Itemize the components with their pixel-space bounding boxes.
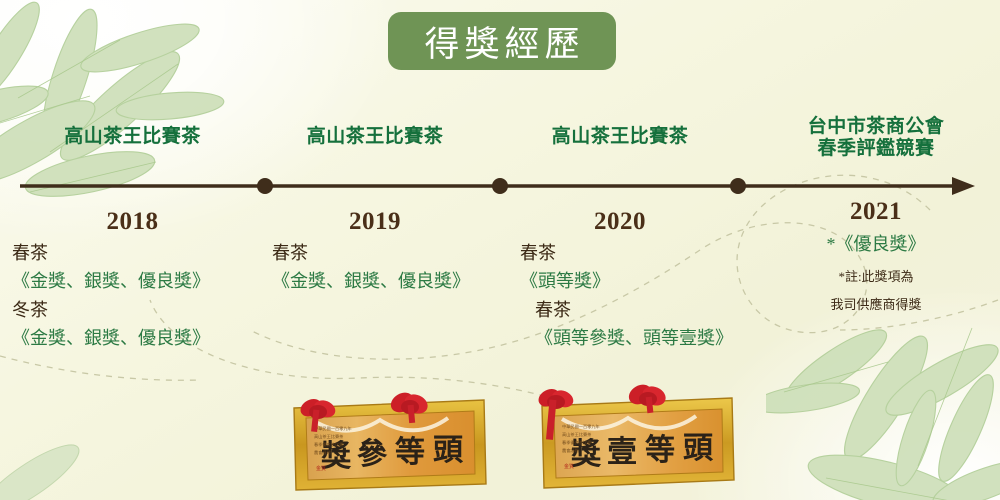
award-note-line1: *註:此獎項為 (752, 268, 1000, 286)
entry-season-label: 春茶 (272, 240, 500, 267)
entry-season-label: 春茶 (12, 240, 265, 267)
svg-text:金質: 金質 (564, 463, 574, 470)
award-entry: 春茶 《金獎、銀獎、優良獎》 (12, 240, 265, 295)
award-plaque-toudeng-canjiang: 頭 等 參 獎 中華民國一百零九年 高山茶王比賽茶 春季優良茶比賽 農會謹贈 金… (288, 378, 490, 500)
award-entry: 春茶 《頭等參獎、頭等壹獎》 (535, 297, 740, 352)
timeline-column-2019: 高山茶王比賽茶 2019 春茶 《金獎、銀獎、優良獎》 (250, 126, 500, 295)
entry-awards-text: 《頭等參獎、頭等壹獎》 (535, 324, 740, 352)
svg-text:春季優良茶比賽: 春季優良茶比賽 (562, 439, 592, 446)
timeline-column-2021: 台中市茶商公會 春季評鑑競賽 2021 *《優良獎》 *註:此獎項為 我司供應商… (752, 116, 1000, 314)
award-plaque-toudeng-yijiang: 頭 等 壹 獎 中華民國一百零九年 高山茶王比賽茶 春季優良茶比賽 農會謹贈 金… (528, 372, 738, 500)
svg-text:等: 等 (395, 435, 425, 469)
page-title-badge: 得獎經歷 (388, 12, 616, 70)
page-title: 得獎經歷 (419, 16, 584, 67)
entry-season-label: 冬茶 (12, 297, 265, 324)
column-header-2021-line2: 春季評鑑競賽 (752, 138, 1000, 160)
svg-text:高山茶王比賽茶: 高山茶王比賽茶 (562, 431, 592, 438)
svg-text:中華民國一百零九年: 中華民國一百零九年 (314, 425, 352, 432)
award-entry: 春茶 《金獎、銀獎、優良獎》 (272, 240, 500, 295)
svg-text:金質: 金質 (316, 465, 326, 472)
entry-awards-text: 《金獎、銀獎、優良獎》 (272, 267, 500, 295)
column-header-2019: 高山茶王比賽茶 (250, 126, 500, 148)
award-entry: 冬茶 《金獎、銀獎、優良獎》 (12, 297, 265, 352)
tea-leaf-icon (0, 400, 130, 500)
svg-text:中華民國一百零九年: 中華民國一百零九年 (562, 423, 600, 430)
svg-text:高山茶王比賽茶: 高山茶王比賽茶 (314, 433, 344, 440)
svg-text:春季優良茶比賽: 春季優良茶比賽 (314, 441, 344, 448)
svg-text:參: 參 (357, 437, 388, 471)
column-header-2020: 高山茶王比賽茶 (500, 126, 740, 148)
column-year-2018: 2018 (0, 208, 265, 236)
entry-awards-text: 《金獎、銀獎、優良獎》 (12, 324, 265, 352)
column-year-2020: 2020 (500, 208, 740, 236)
award-entry: 春茶 《頭等獎》 (520, 240, 740, 295)
svg-text:頭: 頭 (683, 432, 714, 465)
column-year-2021: 2021 (752, 198, 1000, 226)
svg-text:農會謹贈: 農會謹贈 (562, 447, 579, 454)
svg-text:壹: 壹 (607, 436, 637, 469)
entry-season-label: 春茶 (520, 240, 740, 267)
award-note-line2: 我司供應商得獎 (752, 296, 1000, 314)
tea-leaf-icon (766, 288, 1000, 500)
entry-awards-text: 《金獎、銀獎、優良獎》 (12, 267, 265, 295)
timeline-column-2020: 高山茶王比賽茶 2020 春茶 《頭等獎》 春茶 《頭等參獎、頭等壹獎》 (500, 126, 740, 352)
column-year-2019: 2019 (250, 208, 500, 236)
timeline-column-2018: 高山茶王比賽茶 2018 春茶 《金獎、銀獎、優良獎》 冬茶 《金獎、銀獎、優良… (0, 126, 265, 352)
column-header-2018: 高山茶王比賽茶 (0, 126, 265, 148)
entry-season-label: 春茶 (535, 297, 740, 324)
award-history-banner: 得獎經歷 高山茶王比賽茶 2018 春茶 《金獎、銀獎、優良獎》 冬茶 《金獎、… (0, 0, 1000, 500)
svg-text:頭: 頭 (433, 434, 464, 467)
entry-awards-text: 《頭等獎》 (520, 267, 740, 295)
svg-text:等: 等 (645, 433, 675, 467)
column-header-2021-line1: 台中市茶商公會 (752, 116, 1000, 138)
svg-text:農會謹贈: 農會謹贈 (314, 449, 331, 456)
entry-awards-text: *《優良獎》 (752, 230, 1000, 258)
